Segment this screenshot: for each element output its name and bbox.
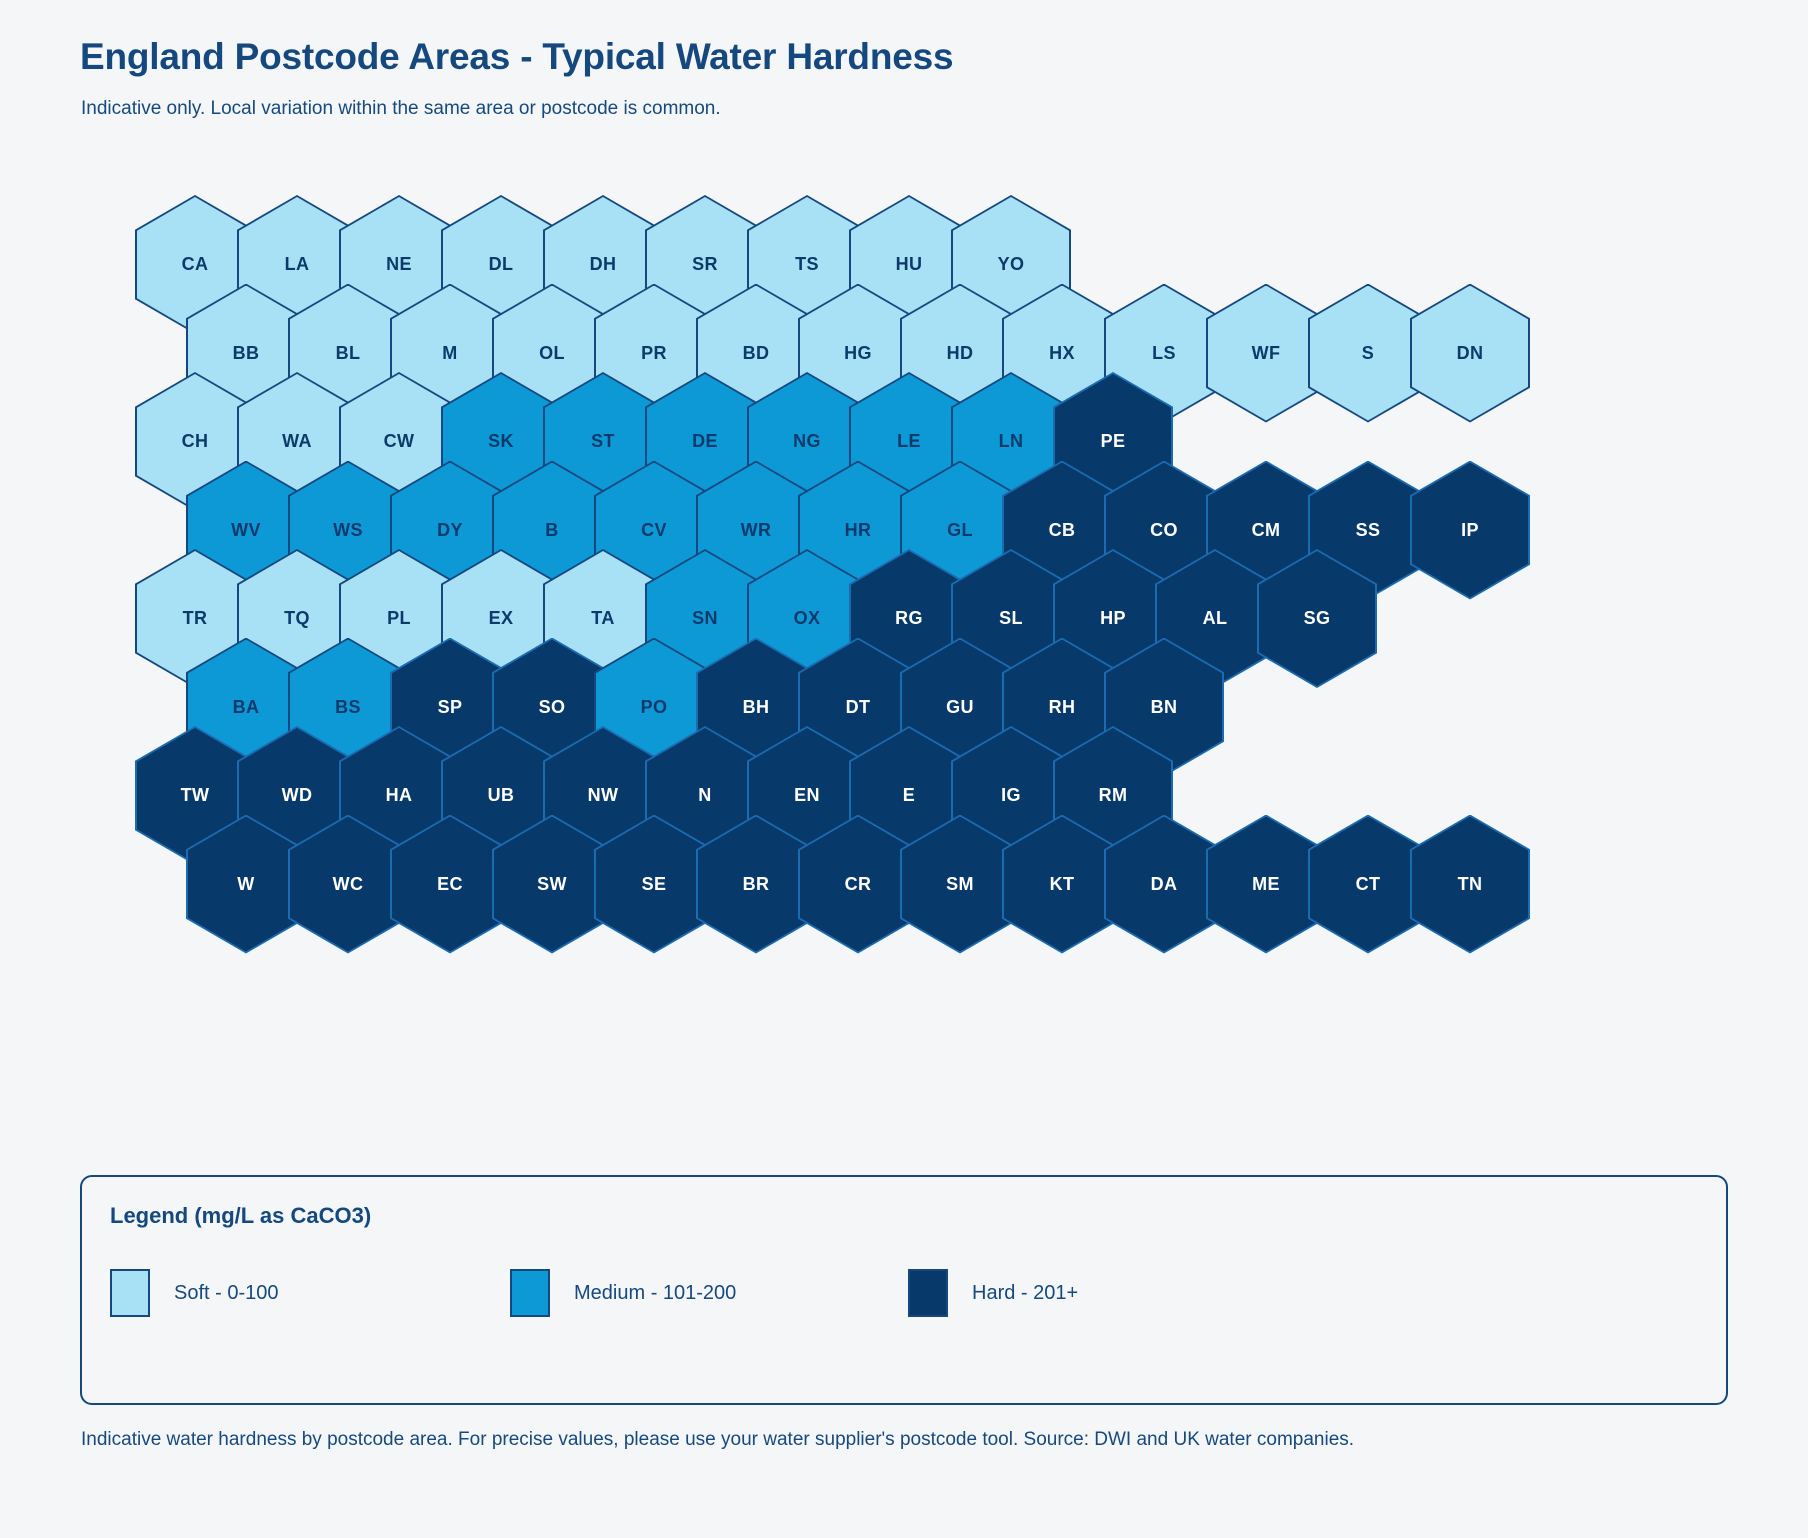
hex-label: EC <box>437 874 463 895</box>
hex-label: SP <box>438 697 463 718</box>
legend-item-medium: Medium - 101-200 <box>510 1269 908 1317</box>
hex-label: KT <box>1050 874 1075 895</box>
hex-label: CB <box>1049 520 1076 541</box>
hex-label: SE <box>642 874 667 895</box>
hex-label: DH <box>590 254 617 275</box>
hex-label: UB <box>488 785 515 806</box>
hex-label: IP <box>1461 520 1479 541</box>
hex-label: SG <box>1304 608 1331 629</box>
hex-label: SK <box>488 431 514 452</box>
hex-fill: IP <box>1412 463 1528 598</box>
hex-label: M <box>442 343 457 364</box>
legend-label-medium: Medium - 101-200 <box>574 1282 736 1305</box>
postcode-hex-map: CALANEDLDHSRTSHUYOBBBLMOLPRBDHGHDHXLSWFS… <box>0 185 1808 985</box>
hex-label: HX <box>1049 343 1075 364</box>
hex-fill: ME <box>1208 817 1324 952</box>
hex-label: CW <box>384 431 415 452</box>
legend-swatch-hard <box>908 1269 948 1317</box>
hex-label: SN <box>692 608 718 629</box>
hex-label: CA <box>182 254 209 275</box>
legend-swatch-soft <box>110 1269 150 1317</box>
hex-label: LS <box>1152 343 1176 364</box>
hex-label: PL <box>387 608 411 629</box>
hex-label: WF <box>1252 343 1281 364</box>
hex-label: BB <box>233 343 260 364</box>
hex-label: YO <box>998 254 1025 275</box>
hex-label: CH <box>182 431 209 452</box>
hex-label: HG <box>844 343 872 364</box>
hex-label: EX <box>489 608 514 629</box>
hex-label: W <box>237 874 254 895</box>
hex-label: CM <box>1252 520 1281 541</box>
hex-label: RG <box>895 608 923 629</box>
hex-label: TW <box>181 785 210 806</box>
hex-label: LN <box>999 431 1024 452</box>
hex-label: S <box>1362 343 1374 364</box>
hex-fill: TN <box>1412 817 1528 952</box>
hex-label: BN <box>1151 697 1178 718</box>
hex-label: DL <box>489 254 514 275</box>
hex-label: RM <box>1099 785 1128 806</box>
hex-label: HA <box>386 785 413 806</box>
hex-label: B <box>545 520 558 541</box>
hex-label: HR <box>845 520 872 541</box>
hex-label: BA <box>233 697 260 718</box>
hex-label: EN <box>794 785 820 806</box>
legend-label-hard: Hard - 201+ <box>972 1282 1078 1305</box>
hex-label: TA <box>591 608 614 629</box>
hex-label: TR <box>183 608 208 629</box>
hex-label: NE <box>386 254 412 275</box>
hex-fill: DN <box>1412 286 1528 421</box>
hex-fill: S <box>1310 286 1426 421</box>
hex-label: N <box>698 785 711 806</box>
legend-panel: Legend (mg/L as CaCO3) Soft - 0-100Mediu… <box>80 1175 1728 1405</box>
hex-label: RH <box>1049 697 1076 718</box>
hex-label: ME <box>1252 874 1280 895</box>
hex-label: WA <box>282 431 312 452</box>
legend-title: Legend (mg/L as CaCO3) <box>110 1203 371 1229</box>
hex-label: NW <box>588 785 619 806</box>
hex-label: ST <box>591 431 615 452</box>
hex-label: BR <box>743 874 770 895</box>
hex-label: WS <box>333 520 363 541</box>
legend-item-list: Soft - 0-100Medium - 101-200Hard - 201+ <box>110 1269 1208 1317</box>
hex-label: AL <box>1203 608 1228 629</box>
hex-label: SR <box>692 254 718 275</box>
hex-label: DY <box>437 520 463 541</box>
hex-label: GL <box>947 520 973 541</box>
hex-label: PO <box>641 697 668 718</box>
hex-label: HP <box>1100 608 1126 629</box>
hex-label: CR <box>845 874 872 895</box>
hex-label: HU <box>896 254 923 275</box>
hex-label: DE <box>692 431 718 452</box>
hex-label: CO <box>1150 520 1178 541</box>
hex-label: GU <box>946 697 974 718</box>
hex-label: WC <box>333 874 364 895</box>
hex-label: NG <box>793 431 821 452</box>
page-title: England Postcode Areas - Typical Water H… <box>80 36 953 78</box>
hex-tn[interactable]: TN <box>1410 815 1530 954</box>
hex-label: SO <box>539 697 566 718</box>
hex-label: SM <box>946 874 974 895</box>
hex-label: TQ <box>284 608 310 629</box>
legend-label-soft: Soft - 0-100 <box>174 1282 279 1305</box>
water-hardness-map-page: England Postcode Areas - Typical Water H… <box>0 0 1808 1538</box>
hex-label: CV <box>641 520 667 541</box>
footnote: Indicative water hardness by postcode ar… <box>81 1429 1354 1451</box>
legend-item-hard: Hard - 201+ <box>908 1269 1208 1317</box>
hex-label: DN <box>1457 343 1484 364</box>
hex-label: SS <box>1356 520 1381 541</box>
hex-fill: WF <box>1208 286 1324 421</box>
hex-label: TS <box>795 254 819 275</box>
hex-label: E <box>903 785 915 806</box>
hex-label: BH <box>743 697 770 718</box>
legend-swatch-medium <box>510 1269 550 1317</box>
hex-label: TN <box>1458 874 1483 895</box>
hex-label: BD <box>743 343 770 364</box>
hex-label: CT <box>1356 874 1381 895</box>
hex-label: SL <box>999 608 1023 629</box>
hex-label: WD <box>282 785 313 806</box>
hex-label: DA <box>1151 874 1178 895</box>
hex-dn[interactable]: DN <box>1410 284 1530 423</box>
hex-label: HD <box>947 343 974 364</box>
page-subtitle: Indicative only. Local variation within … <box>81 98 721 120</box>
hex-label: PR <box>641 343 667 364</box>
hex-label: OX <box>794 608 821 629</box>
hex-label: LE <box>897 431 921 452</box>
hex-ip[interactable]: IP <box>1410 461 1530 600</box>
hex-label: DT <box>846 697 871 718</box>
hex-label: BL <box>336 343 361 364</box>
hex-label: OL <box>539 343 565 364</box>
hex-label: SW <box>537 874 567 895</box>
legend-item-soft: Soft - 0-100 <box>110 1269 510 1317</box>
hex-fill: CT <box>1310 817 1426 952</box>
hex-label: IG <box>1001 785 1021 806</box>
hex-label: BS <box>335 697 361 718</box>
hex-label: PE <box>1101 431 1126 452</box>
hex-label: WR <box>741 520 772 541</box>
hex-label: WV <box>231 520 261 541</box>
hex-label: LA <box>285 254 310 275</box>
